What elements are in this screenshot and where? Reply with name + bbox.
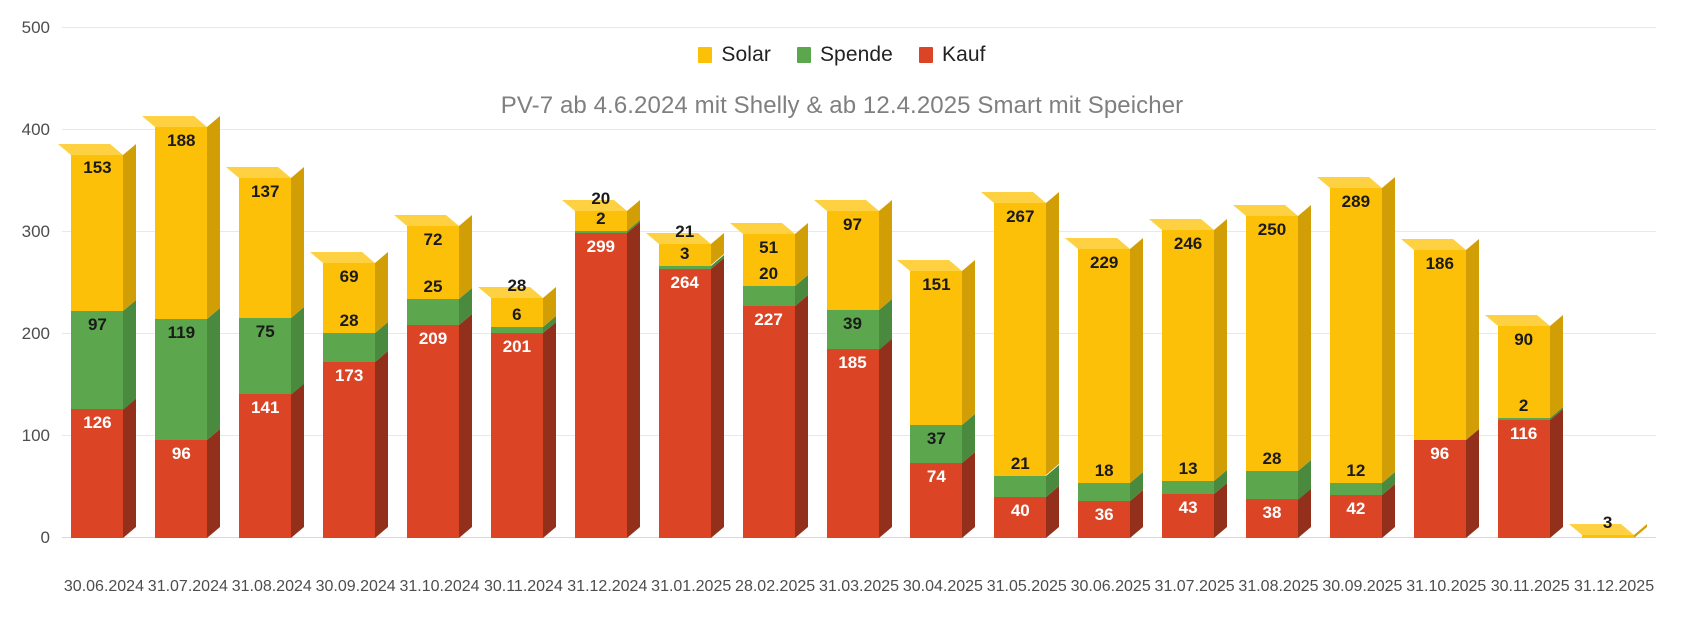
bar-front-face (1078, 249, 1130, 483)
bar-front-face (743, 234, 795, 286)
bar-segment-spende[interactable] (1498, 418, 1550, 420)
bar-top-face (646, 233, 711, 244)
x-axis-tick-label: 31.05.2025 (987, 578, 1067, 596)
bar-side-face (459, 215, 472, 299)
bar-side-face (291, 167, 304, 318)
x-axis-tick-label: 30.06.2024 (64, 578, 144, 596)
bar-segment-spende[interactable] (239, 318, 291, 395)
bar-side-face (1634, 524, 1647, 538)
bar-front-face (910, 271, 962, 425)
x-axis-tick-label: 28.02.2025 (735, 578, 815, 596)
bar-front-face (1330, 483, 1382, 495)
bar-segment-solar[interactable] (1246, 216, 1298, 471)
bar-segment-kauf[interactable] (239, 394, 291, 538)
bar-side-face (1466, 239, 1479, 440)
bar-segment-spende[interactable] (1330, 483, 1382, 495)
bar-side-face (207, 308, 220, 440)
bar-side-face (291, 383, 304, 538)
bar-front-face (827, 349, 879, 538)
bar-front-face (827, 211, 879, 310)
bar-segment-kauf[interactable] (1414, 440, 1466, 538)
bar-front-face (1498, 418, 1550, 420)
bar-front-face (323, 333, 375, 362)
bar-side-face (962, 260, 975, 425)
bar-top-face (1485, 315, 1550, 326)
bar-front-face (1414, 440, 1466, 538)
bar-side-face (627, 222, 640, 538)
y-axis-tick-label: 500 (6, 18, 50, 38)
bar-segment-kauf[interactable] (1246, 499, 1298, 538)
bar-side-face (123, 398, 136, 538)
bar-front-face (1246, 471, 1298, 500)
bar-front-face (407, 299, 459, 325)
bar-group[interactable]: 12697153 (71, 141, 136, 538)
x-axis-tick-label: 31.10.2024 (399, 578, 479, 596)
bar-group[interactable]: 14175137 (239, 165, 304, 538)
bar-front-face (1498, 420, 1550, 538)
bar-front-face (1246, 216, 1298, 471)
bar-front-face (659, 266, 711, 269)
y-axis-tick-label: 100 (6, 426, 50, 446)
bar-side-face (459, 314, 472, 538)
bar-top-face (1401, 239, 1466, 250)
bar-side-face (1550, 315, 1563, 418)
bar-group[interactable]: 3 (1582, 522, 1647, 538)
bar-segment-solar[interactable] (491, 298, 543, 327)
bar-front-face (71, 155, 123, 311)
x-axis-tick-label: 30.11.2025 (1491, 578, 1570, 596)
bar-segment-solar[interactable] (575, 211, 627, 231)
bar-side-face (879, 338, 892, 538)
bar-side-face (291, 307, 304, 395)
bar-group[interactable]: 2092572 (407, 213, 472, 538)
bar-segment-solar[interactable] (659, 244, 711, 265)
x-axis: 30.06.202431.07.202431.08.202430.09.2024… (62, 578, 1656, 608)
bar-top-face (478, 287, 543, 298)
x-axis-tick-label: 31.01.2025 (651, 578, 731, 596)
bar-top-face (562, 200, 627, 211)
bar-side-face (795, 295, 808, 538)
bar-front-face (1162, 494, 1214, 538)
bar-front-face (1078, 483, 1130, 501)
bar-front-face (1498, 326, 1550, 418)
bar-side-face (711, 258, 724, 538)
x-axis-tick-label: 31.07.2024 (148, 578, 228, 596)
bar-segment-spende[interactable] (994, 476, 1046, 497)
bar-segment-kauf[interactable] (827, 349, 879, 538)
x-axis-tick-label: 30.04.2025 (903, 578, 983, 596)
bar-segment-solar[interactable] (1078, 249, 1130, 483)
bar-top-face (1569, 524, 1634, 535)
bar-front-face (491, 298, 543, 327)
bar-segment-solar[interactable] (1582, 535, 1634, 538)
bar-side-face (1046, 192, 1059, 475)
bar-segment-spende[interactable] (1246, 471, 1298, 500)
bar-segment-solar[interactable] (1414, 250, 1466, 440)
x-axis-tick-label: 30.11.2024 (484, 578, 563, 596)
bar-side-face (879, 200, 892, 310)
bar-group[interactable]: 4021267 (994, 190, 1059, 538)
x-axis-tick-label: 31.07.2025 (1155, 578, 1235, 596)
y-axis-tick-label: 300 (6, 222, 50, 242)
bar-segment-kauf[interactable] (155, 440, 207, 538)
bar-segment-spende[interactable] (71, 311, 123, 410)
bar-segment-spende[interactable] (1162, 481, 1214, 494)
bar-group[interactable]: 299220 (575, 198, 640, 538)
bar-front-face (910, 463, 962, 538)
y-axis-tick-label: 200 (6, 324, 50, 344)
bar-side-face (1214, 219, 1227, 481)
x-axis-tick-label: 31.12.2024 (567, 578, 647, 596)
bar-front-face (155, 127, 207, 319)
y-axis-tick-label: 0 (6, 528, 50, 548)
bar-segment-solar[interactable] (994, 203, 1046, 475)
bar-group[interactable]: 1732869 (323, 250, 388, 538)
chart-container: SolarSpendeKauf PV-7 ab 4.6.2024 mit She… (0, 0, 1684, 627)
bar-front-face (323, 263, 375, 333)
bar-segment-kauf[interactable] (910, 463, 962, 538)
bar-segment-kauf[interactable] (575, 233, 627, 538)
bar-segment-kauf[interactable] (407, 325, 459, 538)
bar-top-face (394, 215, 459, 226)
bar-group[interactable]: 4212289 (1330, 175, 1395, 538)
bar-segment-spende[interactable] (827, 310, 879, 350)
bar-segment-spende[interactable] (659, 266, 711, 269)
bar-side-face (1382, 177, 1395, 483)
bar-segment-solar[interactable] (1498, 326, 1550, 418)
bar-segment-solar[interactable] (827, 211, 879, 310)
bar-group[interactable]: 201628 (491, 285, 556, 538)
bar-front-face (659, 269, 711, 538)
bar-segment-solar[interactable] (1330, 188, 1382, 483)
bar-segment-spende[interactable] (491, 327, 543, 333)
bar-front-face (1162, 481, 1214, 494)
bar-side-face (123, 143, 136, 310)
bar-segment-spende[interactable] (575, 231, 627, 233)
bar-side-face (207, 429, 220, 538)
bar-segment-solar[interactable] (155, 127, 207, 319)
bar-top-face (142, 116, 207, 127)
bar-front-face (659, 244, 711, 265)
bar-side-face (207, 116, 220, 319)
bar-front-face (491, 333, 543, 538)
bar-front-face (491, 327, 543, 333)
bar-side-face (1298, 205, 1311, 471)
bar-segment-solar[interactable] (910, 271, 962, 425)
bar-front-face (575, 211, 627, 231)
bar-segment-kauf[interactable] (323, 362, 375, 538)
bar-segment-kauf[interactable] (659, 269, 711, 538)
bar-segment-kauf[interactable] (491, 333, 543, 538)
bar-group[interactable]: 2272051 (743, 221, 808, 538)
bar-segment-solar[interactable] (407, 226, 459, 299)
bar-segment-kauf[interactable] (1078, 501, 1130, 538)
bar-segment-kauf[interactable] (994, 497, 1046, 538)
bar-group[interactable]: 264321 (659, 231, 724, 538)
bar-segment-solar[interactable] (743, 234, 795, 286)
x-axis-tick-label: 30.09.2025 (1322, 578, 1402, 596)
bar-front-face (827, 310, 879, 350)
bar-front-face (743, 286, 795, 306)
bar-top-face (58, 144, 123, 155)
bar-front-face (239, 178, 291, 318)
bar-front-face (1414, 250, 1466, 440)
bar-side-face (962, 452, 975, 538)
bar-segment-spende[interactable] (910, 425, 962, 463)
bar-group[interactable]: 7437151 (910, 258, 975, 538)
bar-side-face (1550, 409, 1563, 538)
bar-segment-kauf[interactable] (1330, 495, 1382, 538)
x-axis-tick-label: 31.08.2024 (232, 578, 312, 596)
bar-front-face (1162, 230, 1214, 481)
bar-front-face (575, 233, 627, 538)
bar-front-face (743, 306, 795, 538)
bar-segment-spende[interactable] (323, 333, 375, 362)
bar-segment-spende[interactable] (155, 319, 207, 440)
bar-front-face (994, 497, 1046, 538)
bar-top-face (1065, 238, 1130, 249)
bar-front-face (239, 318, 291, 395)
bar-segment-spende[interactable] (407, 299, 459, 325)
bars-layer: 1269715396119188141751371732869209257220… (62, 28, 1656, 538)
bar-side-face (543, 322, 556, 538)
bar-front-face (910, 425, 962, 463)
y-axis-tick-label: 400 (6, 120, 50, 140)
bar-group[interactable]: 1853997 (827, 198, 892, 538)
bar-front-face (155, 440, 207, 538)
bar-top-face (897, 260, 962, 271)
bar-segment-spende[interactable] (1078, 483, 1130, 501)
bar-segment-kauf[interactable] (743, 306, 795, 538)
bar-group[interactable]: 3618229 (1078, 236, 1143, 538)
bar-front-face (1582, 535, 1634, 538)
bar-group[interactable]: 3828250 (1246, 203, 1311, 538)
bar-side-face (1466, 429, 1479, 538)
bar-top-face (1233, 205, 1298, 216)
x-axis-tick-label: 31.12.2025 (1574, 578, 1654, 596)
bar-segment-solar[interactable] (323, 263, 375, 333)
bar-group[interactable]: 96119188 (155, 114, 220, 538)
bar-segment-solar[interactable] (71, 155, 123, 311)
bar-segment-kauf[interactable] (71, 409, 123, 538)
bar-top-face (981, 192, 1046, 203)
bar-front-face (407, 226, 459, 299)
bar-top-face (1317, 177, 1382, 188)
bar-front-face (155, 319, 207, 440)
bar-group[interactable]: 96186 (1414, 237, 1479, 538)
x-axis-tick-label: 30.09.2024 (316, 578, 396, 596)
bar-top-face (310, 252, 375, 263)
bar-segment-spende[interactable] (743, 286, 795, 306)
bar-front-face (323, 362, 375, 538)
bar-side-face (1130, 238, 1143, 483)
bar-side-face (375, 252, 388, 333)
bar-group[interactable]: 116290 (1498, 313, 1563, 538)
bar-side-face (795, 223, 808, 286)
bar-front-face (1330, 495, 1382, 538)
x-axis-tick-label: 31.03.2025 (819, 578, 899, 596)
bar-front-face (575, 231, 627, 233)
bar-front-face (71, 409, 123, 538)
x-axis-tick-label: 31.08.2025 (1238, 578, 1318, 596)
bar-top-face (730, 223, 795, 234)
bar-side-face (375, 351, 388, 538)
bar-front-face (407, 325, 459, 538)
bar-segment-solar[interactable] (1162, 230, 1214, 481)
bar-segment-solar[interactable] (239, 178, 291, 318)
bar-top-face (814, 200, 879, 211)
bar-top-face (1149, 219, 1214, 230)
x-axis-tick-label: 30.06.2025 (1071, 578, 1151, 596)
x-axis-tick-label: 31.10.2025 (1406, 578, 1486, 596)
bar-segment-kauf[interactable] (1162, 494, 1214, 538)
bar-top-face (226, 167, 291, 178)
bar-side-face (123, 300, 136, 410)
bar-front-face (71, 311, 123, 410)
bar-front-face (239, 394, 291, 538)
bar-front-face (1330, 188, 1382, 483)
bar-front-face (994, 476, 1046, 497)
bar-group[interactable]: 4313246 (1162, 217, 1227, 538)
bar-front-face (1078, 501, 1130, 538)
bar-front-face (994, 203, 1046, 475)
bar-front-face (1246, 499, 1298, 538)
bar-segment-kauf[interactable] (1498, 420, 1550, 538)
